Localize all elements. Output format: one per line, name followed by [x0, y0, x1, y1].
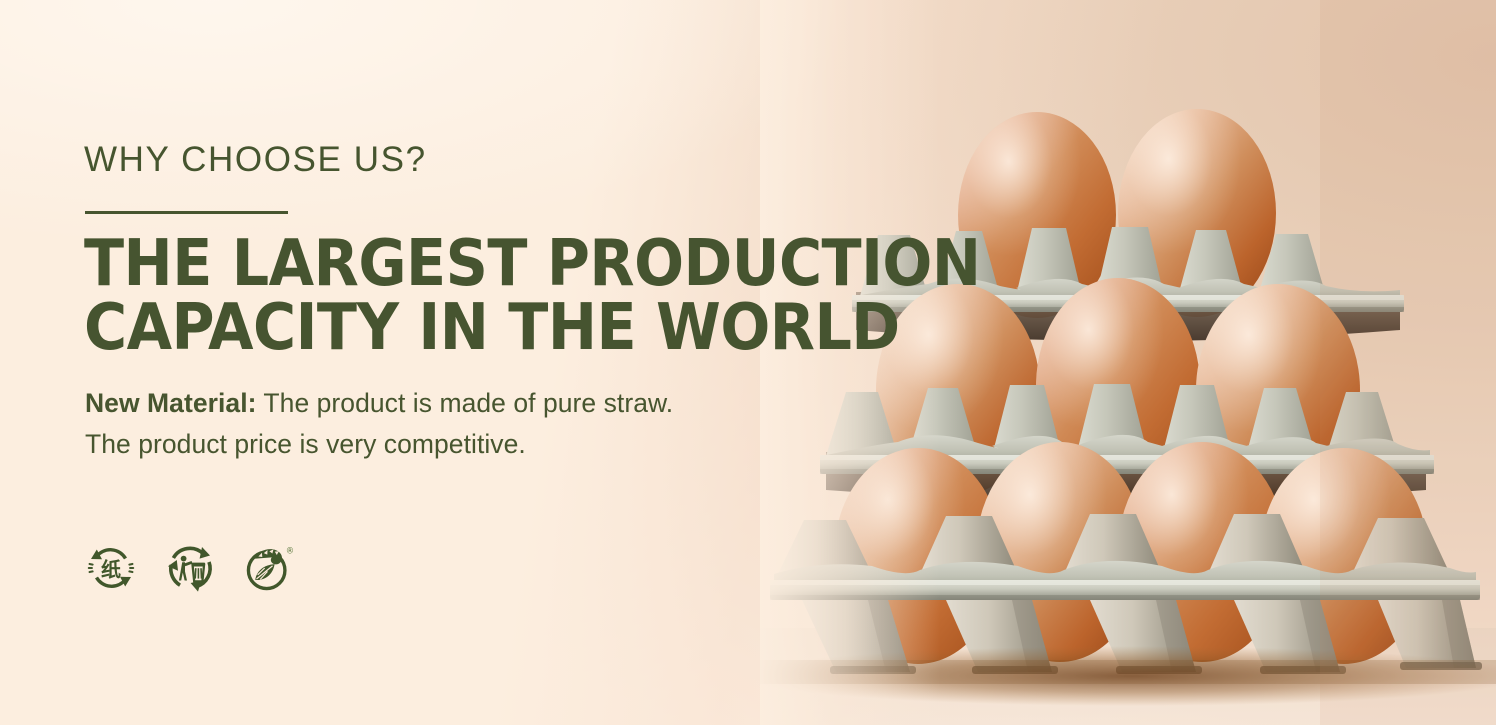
heading-divider: [85, 211, 288, 214]
paper-character-glyph: 纸: [101, 558, 121, 582]
headline-line-2: CAPACITY IN THE WORLD: [84, 296, 920, 360]
straw-pulp-certified-badge-icon: ®: [242, 540, 296, 596]
body-lead-label: New Material:: [85, 388, 256, 418]
certification-badges: 纸: [84, 540, 296, 596]
headline-line-1: THE LARGEST PRODUCTION: [84, 232, 920, 296]
body-copy: New Material: The product is made of pur…: [85, 383, 865, 465]
promo-banner: WHY CHOOSE US? THE LARGEST PRODUCTION CA…: [0, 0, 1496, 725]
body-line-1-rest: The product is made of pure straw.: [256, 388, 673, 418]
eyebrow-heading: WHY CHOOSE US?: [84, 140, 427, 180]
page-title: THE LARGEST PRODUCTION CAPACITY IN THE W…: [84, 232, 920, 360]
tidyman-dispose-badge-icon: [163, 540, 217, 596]
body-line-2: The product price is very competitive.: [85, 424, 865, 465]
copy-column: WHY CHOOSE US? THE LARGEST PRODUCTION CA…: [84, 0, 904, 725]
body-line-1: New Material: The product is made of pur…: [85, 383, 865, 424]
registered-trademark-mark: ®: [286, 546, 294, 556]
recyclable-paper-badge-icon: 纸: [84, 540, 138, 596]
